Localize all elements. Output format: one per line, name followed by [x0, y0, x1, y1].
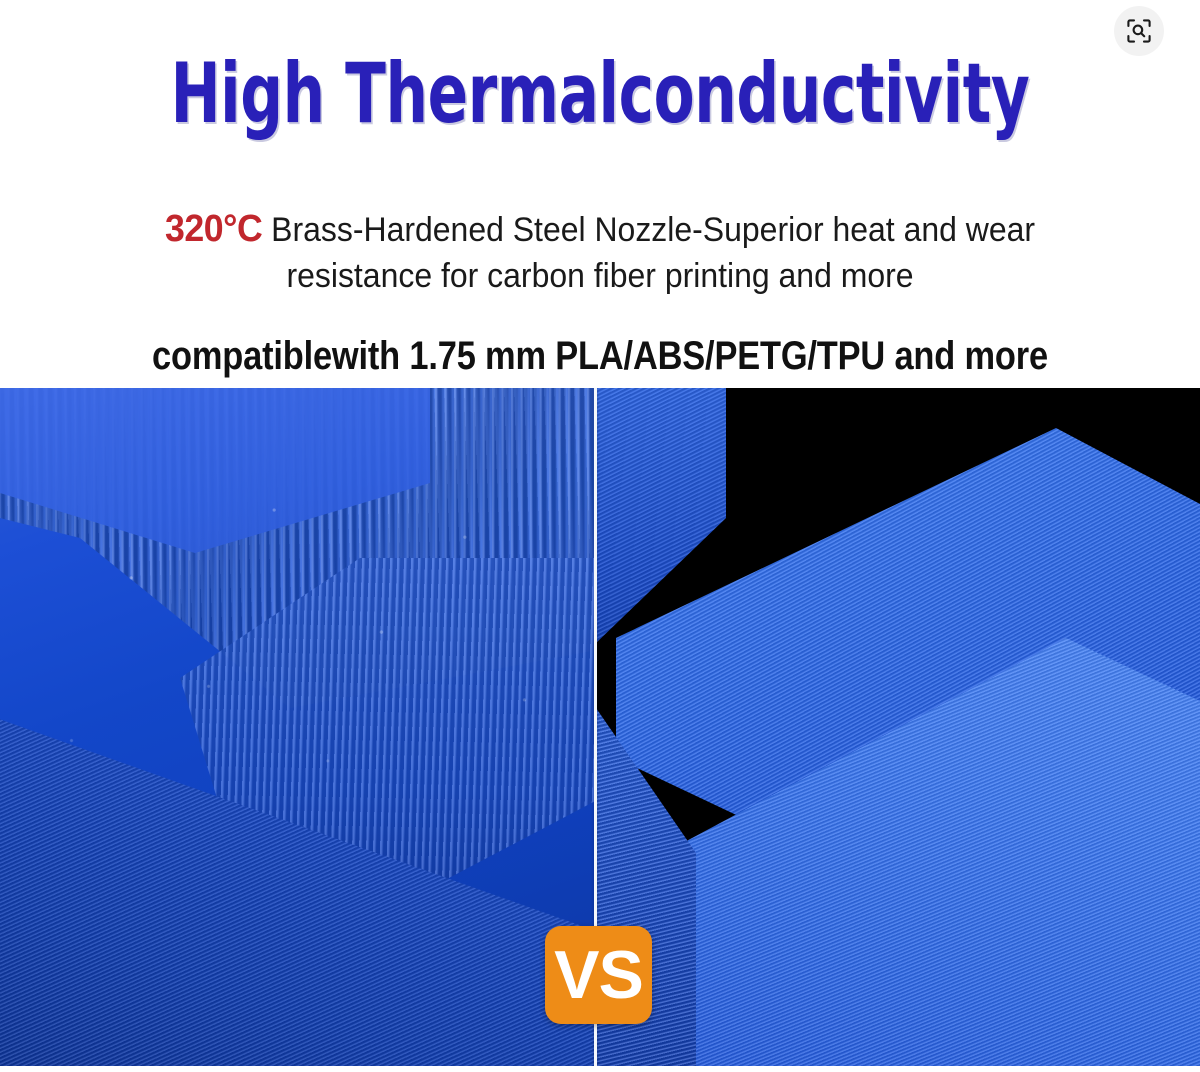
- comparison-left-image: [0, 388, 596, 1066]
- scan-search-icon: [1126, 18, 1152, 44]
- bottom-edge-strip: [0, 1066, 1200, 1072]
- subtitle-text: Brass-Hardened Steel Nozzle-Superior hea…: [262, 211, 1035, 295]
- temperature-value: 320°C: [165, 208, 262, 250]
- subtitle: 320°C Brass-Hardened Steel Nozzle-Superi…: [92, 206, 1107, 299]
- compatibility-line: compatiblewith 1.75 mm PLA/ABS/PETG/TPU …: [84, 332, 1116, 380]
- vs-badge: VS: [545, 926, 652, 1024]
- image-comparison-slider[interactable]: VS: [0, 388, 1200, 1066]
- scan-search-button[interactable]: [1114, 6, 1164, 56]
- page-title: High Thermalconductivity: [120, 50, 1080, 138]
- header-section: High Thermalconductivity 320°C Brass-Har…: [0, 0, 1200, 388]
- comparison-right-image: [596, 388, 1200, 1066]
- product-comparison-page: High Thermalconductivity 320°C Brass-Har…: [0, 0, 1200, 1072]
